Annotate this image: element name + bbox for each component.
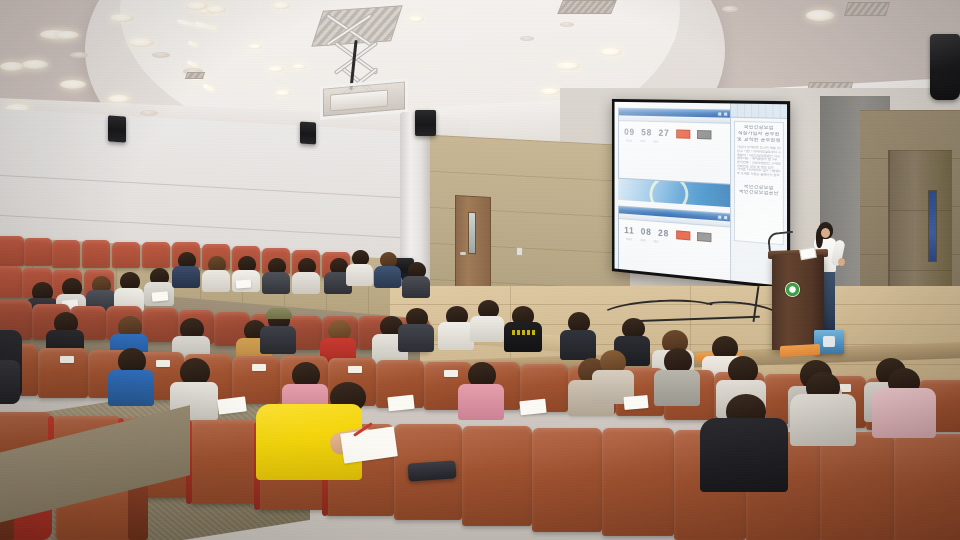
student-body — [374, 266, 401, 288]
timer-hours: 09 — [624, 127, 635, 137]
student-body — [700, 418, 788, 492]
recessed-downlight — [110, 14, 134, 22]
exam-paper — [623, 395, 648, 410]
student-body — [108, 370, 154, 406]
seat[interactable] — [142, 308, 178, 342]
recessed-downlight — [560, 22, 574, 27]
recessed-downlight — [140, 110, 158, 116]
recessed-downlight — [55, 31, 79, 39]
presenter-hand — [838, 258, 845, 266]
recessed-downlight — [540, 88, 560, 95]
seat[interactable] — [142, 242, 170, 268]
student-body — [654, 370, 700, 406]
seat[interactable] — [462, 426, 532, 526]
doc-footer-line: 국민건강보험공단 — [737, 190, 781, 198]
student-body — [398, 324, 434, 352]
exam-paper — [152, 291, 169, 301]
timer-minutes-label: min — [640, 238, 645, 242]
recessed-downlight — [108, 95, 130, 103]
student-body — [402, 276, 430, 298]
stage-side-door-handle[interactable] — [460, 252, 466, 255]
recessed-downlight — [556, 62, 580, 70]
minimize-button[interactable] — [717, 111, 722, 116]
timer-seconds-label: sec — [654, 239, 659, 243]
wall-mounted-speaker — [930, 34, 960, 100]
seat-number-card — [156, 360, 170, 367]
recessed-downlight — [408, 16, 424, 22]
case-label — [823, 336, 835, 347]
recessed-downlight — [70, 52, 88, 58]
recessed-downlight — [520, 36, 534, 41]
projection-screen: 09 58 27 hour min sec — [612, 99, 790, 290]
timer-stop-button[interactable] — [697, 231, 711, 241]
exam-paper — [387, 395, 414, 412]
seat[interactable] — [24, 238, 52, 266]
recessed-downlight — [600, 48, 622, 56]
recessed-downlight — [22, 60, 48, 69]
seat[interactable] — [52, 240, 80, 268]
timer-window-top[interactable]: 09 58 27 hour min sec — [618, 108, 736, 185]
timer-hours-label: hour — [626, 237, 632, 241]
document-page: 국민건강보험 직장가입자 공무원 및 교직원 공무원정보 가입자 자격취득 신고… — [734, 121, 784, 245]
student-body — [292, 272, 320, 294]
wall-power-outlet[interactable] — [516, 247, 523, 256]
bag-on-seat[interactable] — [407, 460, 456, 481]
timer-start-button[interactable] — [676, 129, 690, 138]
baseball-cap — [266, 308, 292, 319]
seat-number-card — [444, 370, 458, 377]
recessed-downlight — [275, 90, 291, 96]
recessed-downlight — [722, 6, 738, 12]
seat[interactable] — [0, 266, 22, 298]
student-body — [790, 394, 856, 446]
student-body — [872, 388, 936, 438]
maximize-button[interactable] — [723, 111, 728, 116]
timer-start-button[interactable] — [676, 230, 690, 240]
recessed-downlight — [248, 44, 262, 49]
university-emblem — [785, 282, 800, 297]
student-body — [202, 270, 230, 292]
seat-number-card — [60, 356, 74, 363]
stage-side-door-glass — [468, 212, 476, 254]
student-body — [260, 326, 296, 354]
orange-box — [780, 344, 820, 357]
backpack[interactable] — [0, 360, 20, 404]
recessed-downlight — [152, 52, 170, 58]
recessed-downlight — [186, 2, 208, 10]
seat[interactable] — [602, 428, 674, 536]
recessed-downlight — [272, 2, 290, 9]
seat-number-card — [348, 366, 362, 373]
recessed-downlight — [292, 64, 306, 69]
student-black-graphic-tee — [504, 322, 542, 352]
student-body — [172, 266, 200, 288]
timer-hours-label: hour — [626, 139, 632, 143]
recessed-downlight — [206, 6, 226, 13]
minimize-button[interactable] — [717, 214, 722, 219]
exam-paper — [236, 279, 252, 288]
seat[interactable] — [532, 428, 602, 532]
wall-mounted-speaker — [108, 115, 126, 142]
timer-minutes-label: min — [640, 139, 645, 143]
seat-armrest — [128, 484, 148, 540]
ceiling-air-vent — [185, 72, 205, 79]
projection-screen-surface: 09 58 27 hour min sec — [615, 102, 787, 286]
lecture-hall-photo: 09 58 27 hour min sec — [0, 0, 960, 540]
exam-paper — [519, 399, 546, 416]
timer-window-bottom[interactable]: 11 08 28 hour min sec — [618, 206, 736, 284]
recessed-downlight — [60, 80, 86, 89]
student-body — [262, 272, 290, 294]
seat[interactable] — [820, 432, 894, 540]
student-body — [470, 316, 504, 342]
timer-seconds: 27 — [659, 128, 670, 138]
recessed-downlight — [0, 62, 24, 71]
seat[interactable] — [894, 434, 960, 540]
exit-door-glass — [928, 190, 937, 262]
timer-minutes: 58 — [641, 127, 652, 137]
timer-stop-button[interactable] — [697, 130, 711, 139]
document-ribbon-toolbar[interactable] — [731, 103, 787, 118]
presenter-face — [821, 228, 830, 238]
seat[interactable] — [0, 236, 24, 266]
student-body — [560, 330, 596, 360]
timer-seconds: 28 — [658, 228, 669, 239]
recessed-downlight — [806, 10, 834, 21]
shirt-graphic-text — [512, 330, 536, 335]
wall-mounted-speaker — [415, 110, 436, 136]
student-body — [438, 322, 474, 350]
timer-seconds-label: sec — [654, 140, 659, 144]
wall-mounted-speaker — [300, 121, 316, 144]
recessed-downlight — [128, 38, 154, 47]
seat[interactable] — [112, 242, 140, 268]
seat-number-card — [252, 364, 266, 371]
student-body — [458, 384, 504, 420]
recessed-downlight — [268, 66, 284, 72]
timer-hours: 11 — [624, 225, 634, 235]
seat[interactable] — [82, 240, 110, 268]
timer-minutes: 08 — [641, 227, 652, 238]
ceiling-air-vent — [557, 0, 617, 14]
maximize-button[interactable] — [723, 215, 728, 220]
ceiling-air-vent — [844, 2, 890, 16]
seat[interactable] — [190, 420, 258, 504]
student-body — [346, 264, 373, 286]
